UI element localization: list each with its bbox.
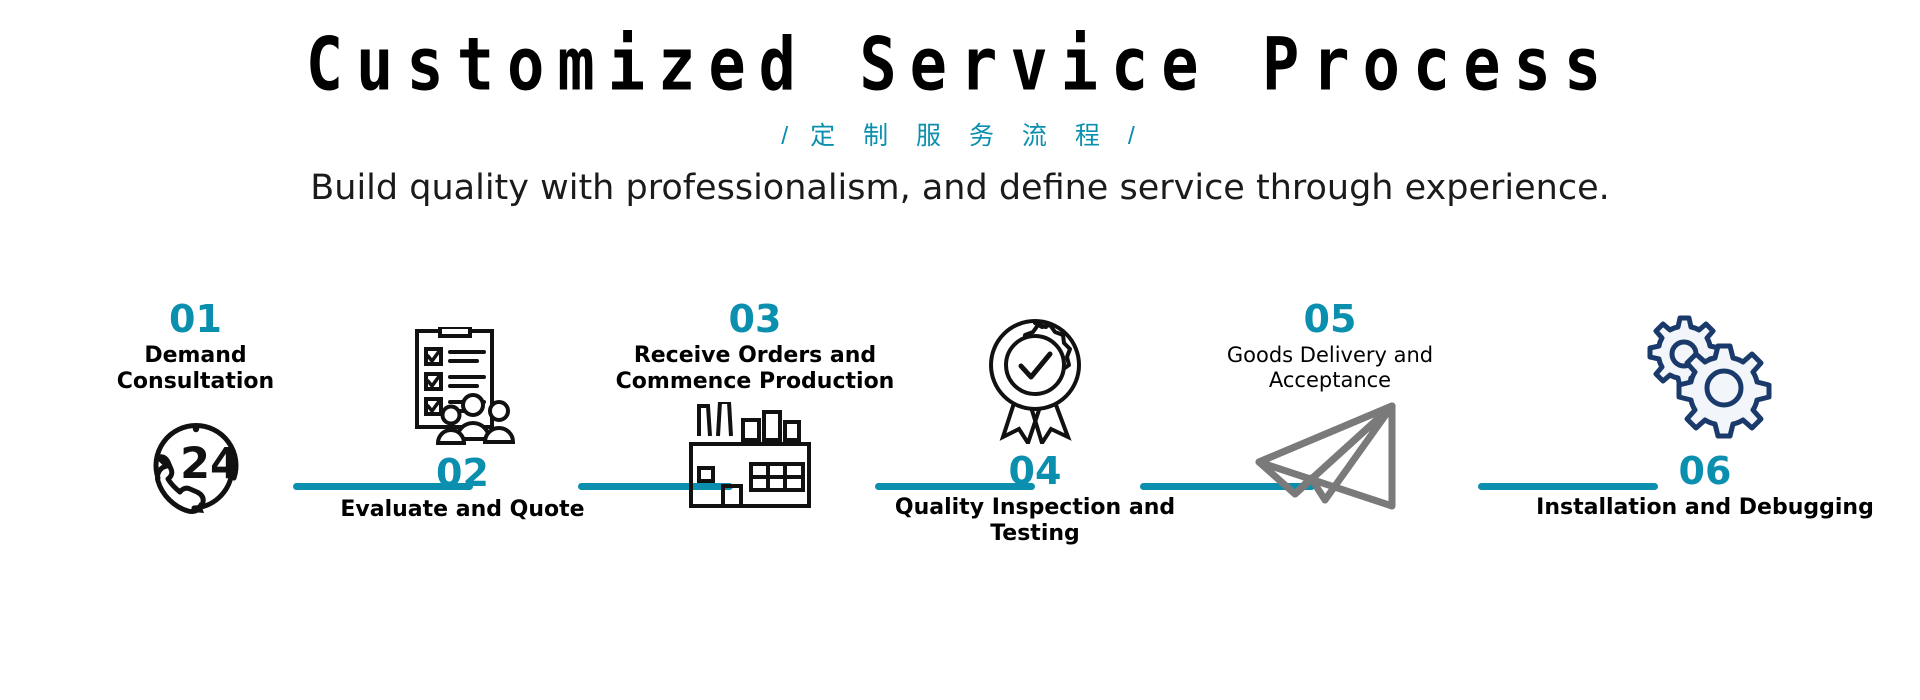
page-title: Customized Service Process — [0, 0, 1920, 101]
step-number-02: 02 — [325, 454, 600, 492]
phone-24h-icon: 24 — [58, 400, 333, 520]
quality-badge-icon — [870, 300, 1200, 440]
step-label-04: Quality Inspection and Testing — [870, 495, 1200, 546]
step-label-05: Goods Delivery and Acceptance — [1165, 343, 1495, 392]
step-label-02: Evaluate and Quote — [325, 497, 600, 523]
header: Customized Service Process / 定 制 服 务 流 程… — [0, 0, 1920, 208]
infographic-page: Customized Service Process / 定 制 服 务 流 程… — [0, 0, 1920, 700]
chinese-subtitle: / 定 制 服 务 流 程 / — [0, 116, 1920, 152]
tagline: Build quality with professionalism, and … — [0, 168, 1920, 208]
process-step-04[interactable]: 04 Quality Inspection and Testing — [870, 300, 1200, 546]
checklist-people-icon — [325, 300, 600, 440]
step-number-04: 04 — [870, 452, 1200, 490]
step-label-01: Demand Consultation — [58, 343, 333, 394]
factory-icon — [610, 396, 900, 516]
step-label-06: Installation and Debugging — [1505, 495, 1905, 521]
slash-right-decor: / — [1128, 122, 1139, 150]
step-label-03: Receive Orders and Commence Production — [610, 343, 900, 394]
step-number-01: 01 — [58, 300, 333, 338]
process-flow: 01 Demand Consultation 24 — [0, 300, 1920, 700]
process-step-01[interactable]: 01 Demand Consultation 24 — [58, 300, 333, 520]
paper-plane-icon — [1165, 396, 1495, 516]
step-number-03: 03 — [610, 300, 900, 338]
step-number-05: 05 — [1165, 300, 1495, 338]
process-step-02[interactable]: 02 Evaluate and Quote — [325, 300, 600, 523]
gears-icon — [1505, 300, 1905, 440]
step-number-06: 06 — [1505, 452, 1905, 490]
process-step-03[interactable]: 03 Receive Orders and Commence Productio… — [610, 300, 900, 516]
icon-badge-label: 24 — [180, 439, 240, 489]
process-step-05[interactable]: 05 Goods Delivery and Acceptance — [1165, 300, 1495, 516]
chinese-subtitle-text: 定 制 服 务 流 程 — [810, 121, 1110, 150]
slash-left-decor: / — [781, 122, 792, 150]
process-step-06[interactable]: 06 Installation and Debugging — [1505, 300, 1905, 521]
